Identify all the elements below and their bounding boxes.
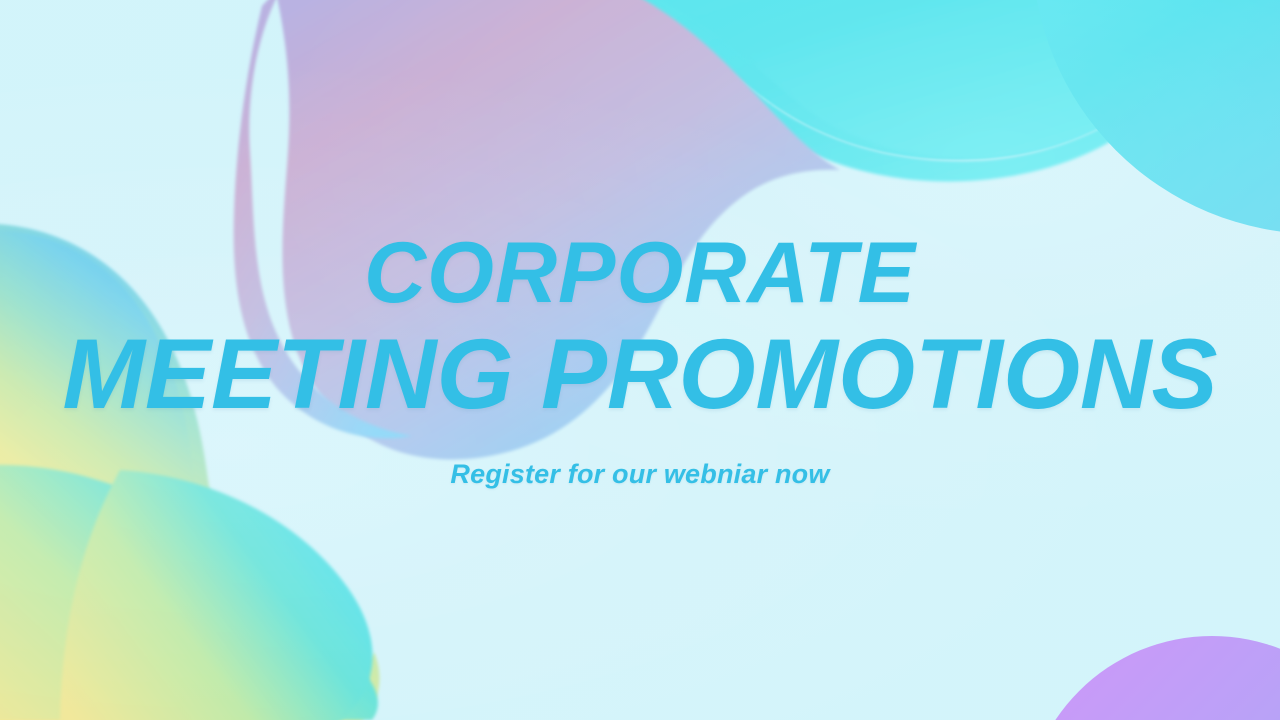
page-title: CORPORATE MEETING PROMOTIONS — [62, 230, 1217, 425]
slide-content: CORPORATE MEETING PROMOTIONS Register fo… — [0, 0, 1280, 720]
headline-line-2: MEETING PROMOTIONS — [62, 324, 1217, 425]
promo-slide: CORPORATE MEETING PROMOTIONS Register fo… — [0, 0, 1280, 720]
subtitle-cta: Register for our webniar now — [450, 459, 829, 490]
headline-line-1: CORPORATE — [62, 230, 1217, 318]
